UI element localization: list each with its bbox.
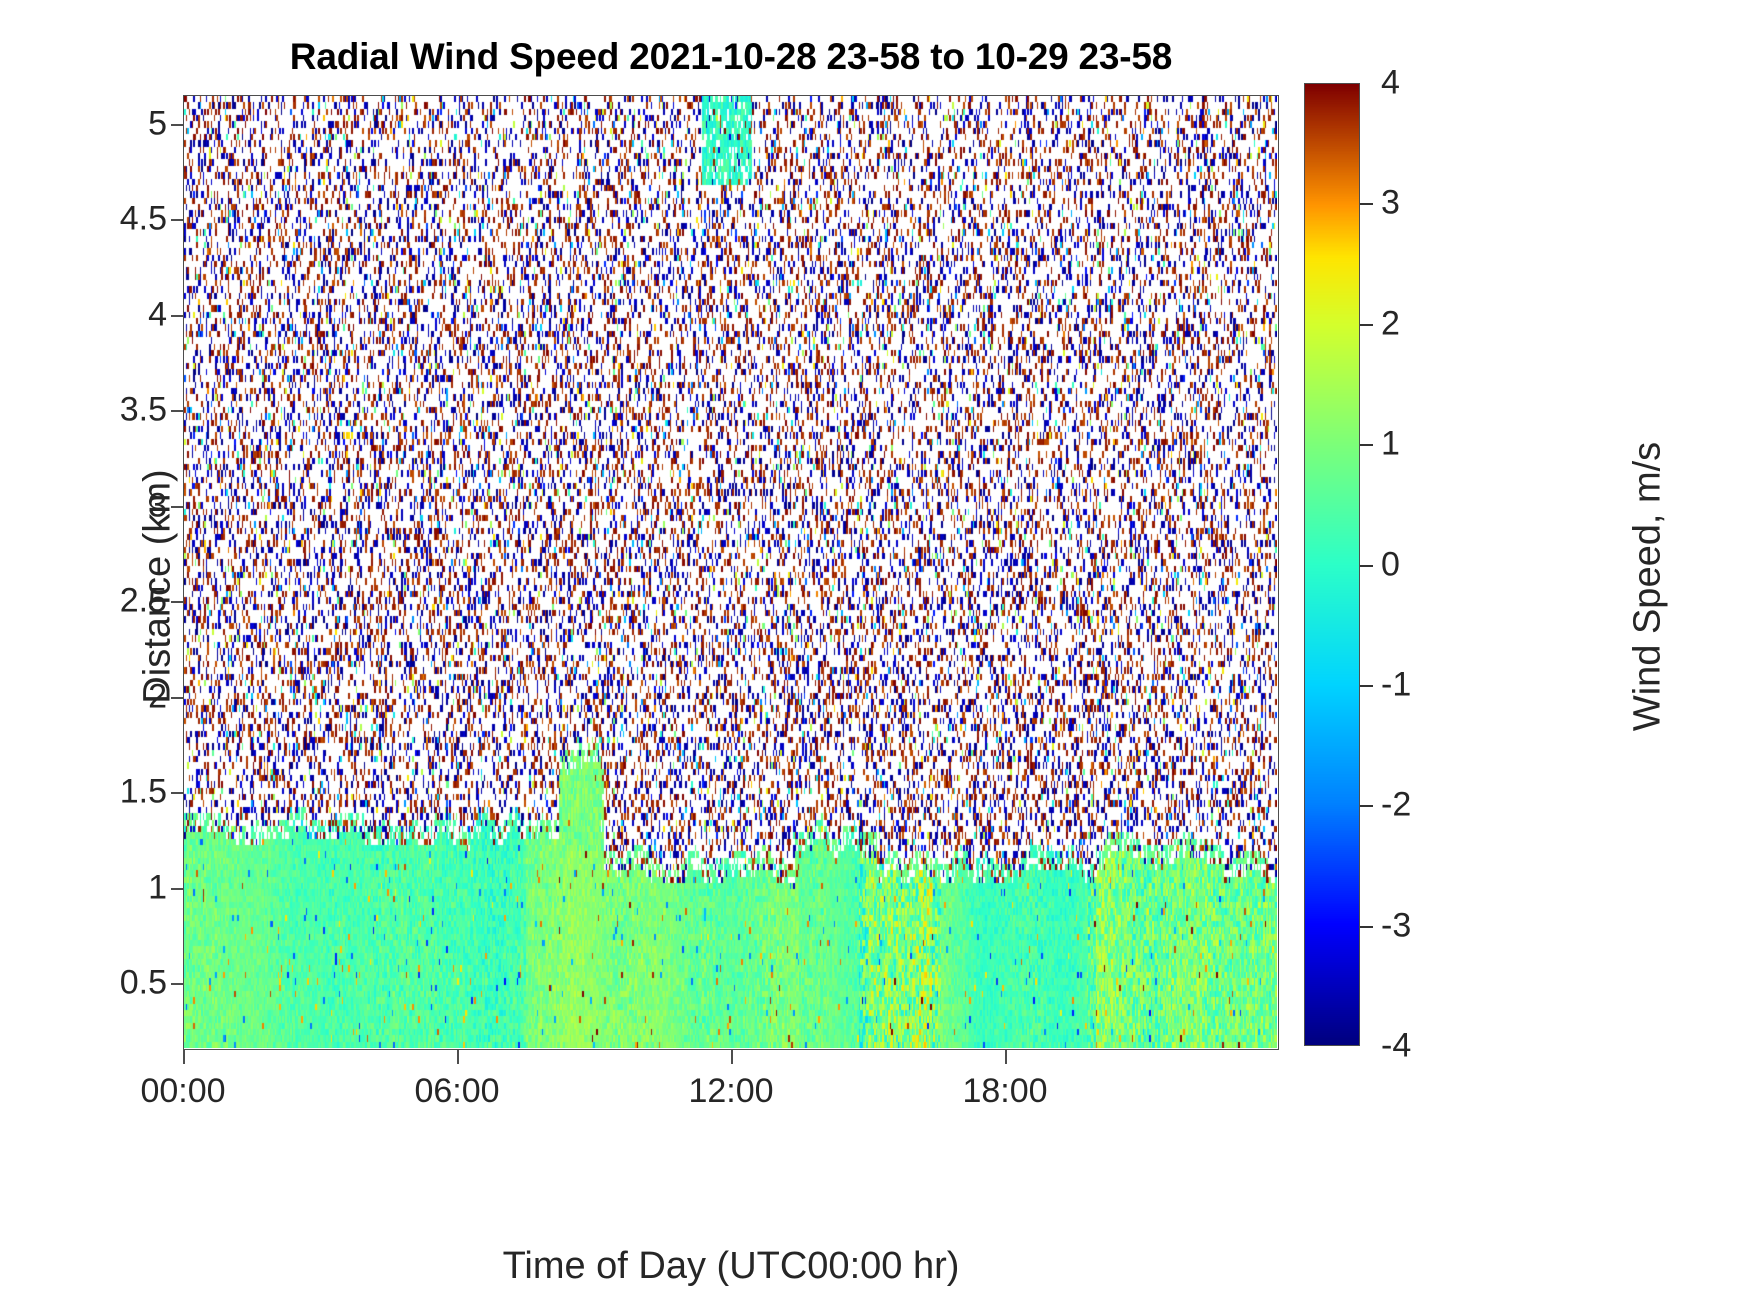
x-tick-06:00 xyxy=(457,1050,459,1064)
colorbar-tick--3 xyxy=(1360,926,1373,928)
x-tick-label-00:00: 00:00 xyxy=(140,1072,225,1111)
colorbar-tick-0 xyxy=(1360,565,1373,567)
colorbar-tick-label--4: -4 xyxy=(1381,1027,1411,1066)
colorbar-tick-label-4: 4 xyxy=(1381,64,1400,103)
colorbar-tick-label-1: 1 xyxy=(1381,425,1400,464)
figure-canvas: Radial Wind Speed 2021-10-28 23-58 to 10… xyxy=(0,0,1750,1313)
colorbar-tick-3 xyxy=(1360,203,1373,205)
x-tick-18:00 xyxy=(1005,1050,1007,1064)
colorbar-tick-label-3: 3 xyxy=(1381,184,1400,223)
x-tick-label-06:00: 06:00 xyxy=(414,1072,499,1111)
heatmap-axes xyxy=(183,95,1279,1050)
page-title: Radial Wind Speed 2021-10-28 23-58 to 10… xyxy=(183,36,1279,78)
colorbar-tick-2 xyxy=(1360,324,1373,326)
x-tick-label-12:00: 12:00 xyxy=(688,1072,773,1111)
x-tick-00:00 xyxy=(183,1050,185,1064)
colorbar-tick--1 xyxy=(1360,685,1373,687)
x-tick-12:00 xyxy=(731,1050,733,1064)
colorbar xyxy=(1304,83,1360,1046)
colorbar-tick-label-0: 0 xyxy=(1381,545,1400,584)
colorbar-tick-label--3: -3 xyxy=(1381,906,1411,945)
colorbar-tick-label--2: -2 xyxy=(1381,786,1411,825)
colorbar-tick-label-2: 2 xyxy=(1381,304,1400,343)
wind-speed-heatmap xyxy=(184,96,1277,1048)
colorbar-tick--2 xyxy=(1360,805,1373,807)
x-axis-label: Time of Day (UTC00:00 hr) xyxy=(183,1245,1279,1288)
y-axis-label: Distance (km) xyxy=(137,107,180,1067)
colorbar-tick-label--1: -1 xyxy=(1381,665,1411,704)
x-tick-label-18:00: 18:00 xyxy=(962,1072,1047,1111)
colorbar-label: Wind Speed, m/s xyxy=(1627,107,1670,1067)
colorbar-tick-1 xyxy=(1360,444,1373,446)
colorbar-gradient xyxy=(1305,84,1359,1045)
